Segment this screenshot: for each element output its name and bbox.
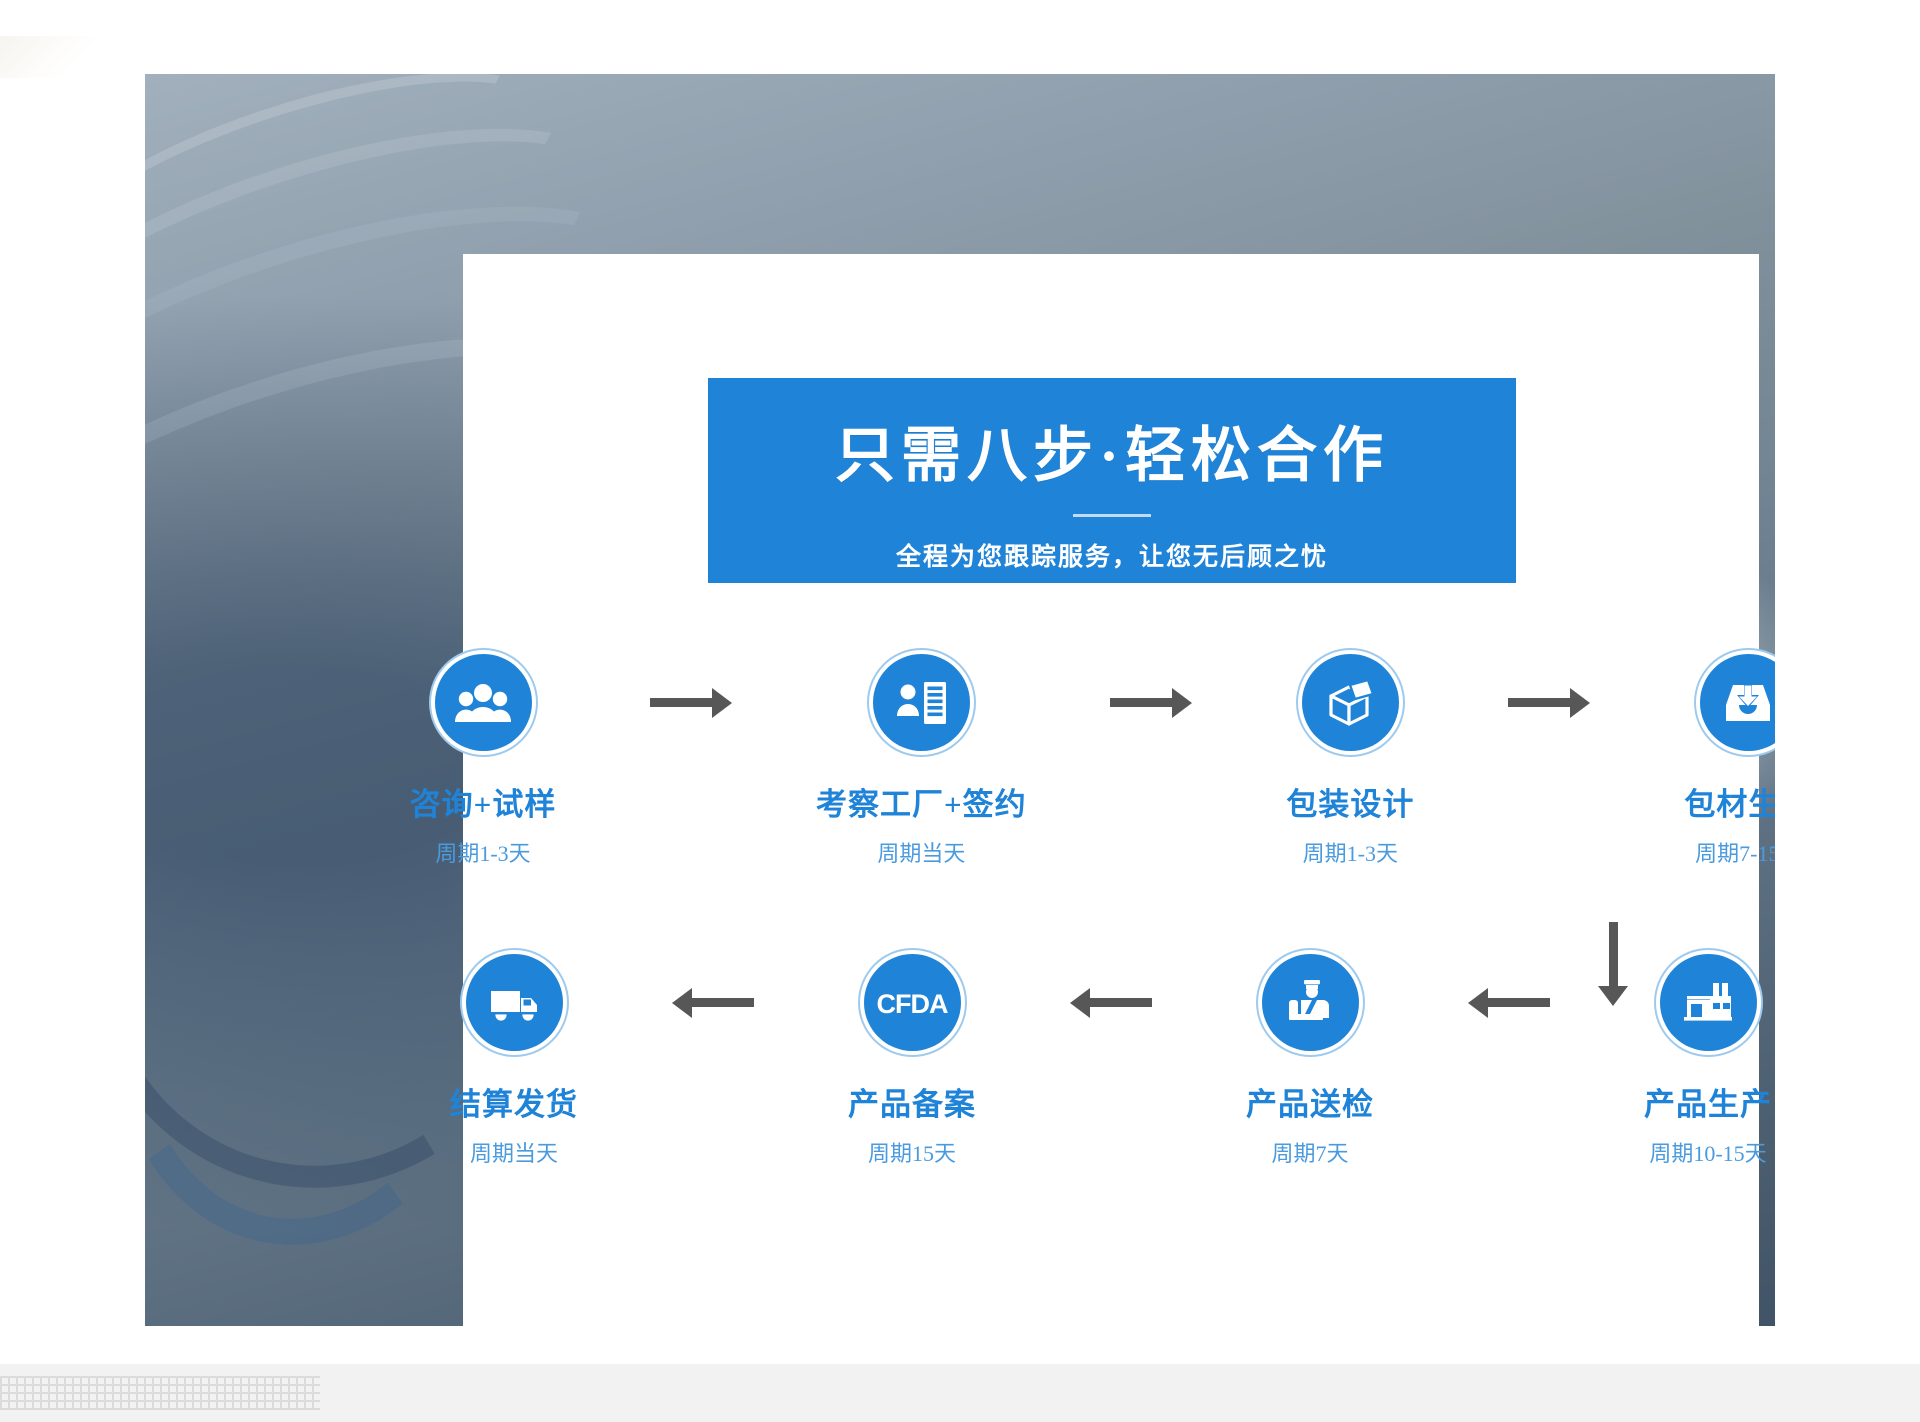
step-title: 产品生产	[1644, 1079, 1772, 1124]
arrow-right-3	[1504, 654, 1594, 751]
arrow-left-3	[1464, 954, 1554, 1051]
step-title: 咨询+试样	[410, 779, 557, 824]
arrow-right-1	[646, 654, 736, 751]
arrow-shaft	[650, 698, 712, 707]
badge-inspector	[1262, 954, 1359, 1051]
arrow-head	[1468, 988, 1488, 1018]
bottom-strip	[0, 1364, 1920, 1422]
users-group-icon	[454, 674, 512, 732]
arrow-left-2	[1066, 954, 1156, 1051]
arrow-shaft	[1488, 998, 1550, 1007]
factory-icon	[1679, 976, 1737, 1030]
content-card: 只需八步·轻松合作 全程为您跟踪服务，让您无后顾之忧	[463, 254, 1759, 1326]
badge-inbox-download	[1700, 654, 1775, 751]
arrow-head	[1070, 988, 1090, 1018]
banner-divider	[1073, 514, 1151, 517]
arrow-shaft	[1090, 998, 1152, 1007]
arrow-shaft	[1110, 698, 1172, 707]
arrow-shaft	[1508, 698, 1570, 707]
step-meta: 周期当天	[470, 1136, 558, 1168]
step-packaging-design[interactable]: 包装设计 周期1-3天	[1286, 654, 1414, 868]
inbox-download-icon	[1720, 675, 1775, 731]
step-title: 考察工厂+签约	[816, 779, 1027, 824]
step-consultation-sample[interactable]: 咨询+试样 周期1-3天	[410, 654, 557, 868]
step-title: 包材生产	[1684, 779, 1775, 824]
step-material-production[interactable]: 包材生产 周期7-15天	[1684, 654, 1775, 868]
flow-row-2: 结算发货 周期当天 CFDA 产品备案 周期15天	[463, 954, 1759, 1254]
badge-cfda: CFDA	[864, 954, 961, 1051]
step-meta: 周期7天	[1271, 1136, 1348, 1168]
arrow-head	[712, 688, 732, 718]
step-meta: 周期当天	[877, 836, 965, 868]
delivery-truck-icon	[485, 974, 543, 1032]
dot-pattern	[0, 1376, 320, 1410]
step-title: 包装设计	[1286, 779, 1414, 824]
step-meta: 周期1-3天	[1303, 836, 1398, 868]
cfda-icon-label: CFDA	[877, 989, 948, 1019]
step-meta: 周期15天	[868, 1136, 956, 1168]
step-settlement-shipping[interactable]: 结算发货 周期当天	[450, 954, 578, 1168]
heading-banner: 只需八步·轻松合作 全程为您跟踪服务，让您无后顾之忧	[708, 378, 1516, 583]
slide-canvas: 只需八步·轻松合作 全程为您跟踪服务，让您无后顾之忧	[145, 74, 1775, 1326]
badge-id-card-contract	[873, 654, 970, 751]
arrow-head	[1172, 688, 1192, 718]
badge-users-group	[435, 654, 532, 751]
top-margin-strip	[0, 0, 1920, 36]
arrow-head	[672, 988, 692, 1018]
inspector-icon	[1281, 975, 1339, 1031]
arrow-right-2	[1106, 654, 1196, 751]
step-title: 产品备案	[848, 1079, 976, 1124]
banner-subtitle: 全程为您跟踪服务，让您无后顾之忧	[708, 537, 1516, 573]
step-title: 产品送检	[1246, 1079, 1374, 1124]
badge-factory	[1660, 954, 1757, 1051]
badge-delivery-truck	[466, 954, 563, 1051]
step-title: 结算发货	[450, 1079, 578, 1124]
process-flow: 咨询+试样 周期1-3天	[463, 654, 1759, 1254]
badge-open-box	[1302, 654, 1399, 751]
open-box-icon	[1321, 674, 1379, 732]
arrow-left-1	[668, 954, 758, 1051]
step-meta: 周期10-15天	[1649, 1136, 1766, 1168]
cfda-icon: CFDA	[873, 983, 951, 1023]
step-product-inspection[interactable]: 产品送检 周期7天	[1246, 954, 1374, 1168]
step-product-filing[interactable]: CFDA 产品备案 周期15天	[848, 954, 976, 1168]
arrow-shaft	[692, 998, 754, 1007]
step-factory-visit-contract[interactable]: 考察工厂+签约 周期当天	[826, 654, 1016, 868]
step-meta: 周期7-15天	[1695, 836, 1775, 868]
id-card-contract-icon	[893, 675, 949, 731]
step-product-production[interactable]: 产品生产 周期10-15天	[1644, 954, 1772, 1168]
step-meta: 周期1-3天	[435, 836, 530, 868]
banner-title: 只需八步·轻松合作	[708, 378, 1516, 486]
arrow-head	[1570, 688, 1590, 718]
flow-row-1: 咨询+试样 周期1-3天	[463, 654, 1759, 954]
